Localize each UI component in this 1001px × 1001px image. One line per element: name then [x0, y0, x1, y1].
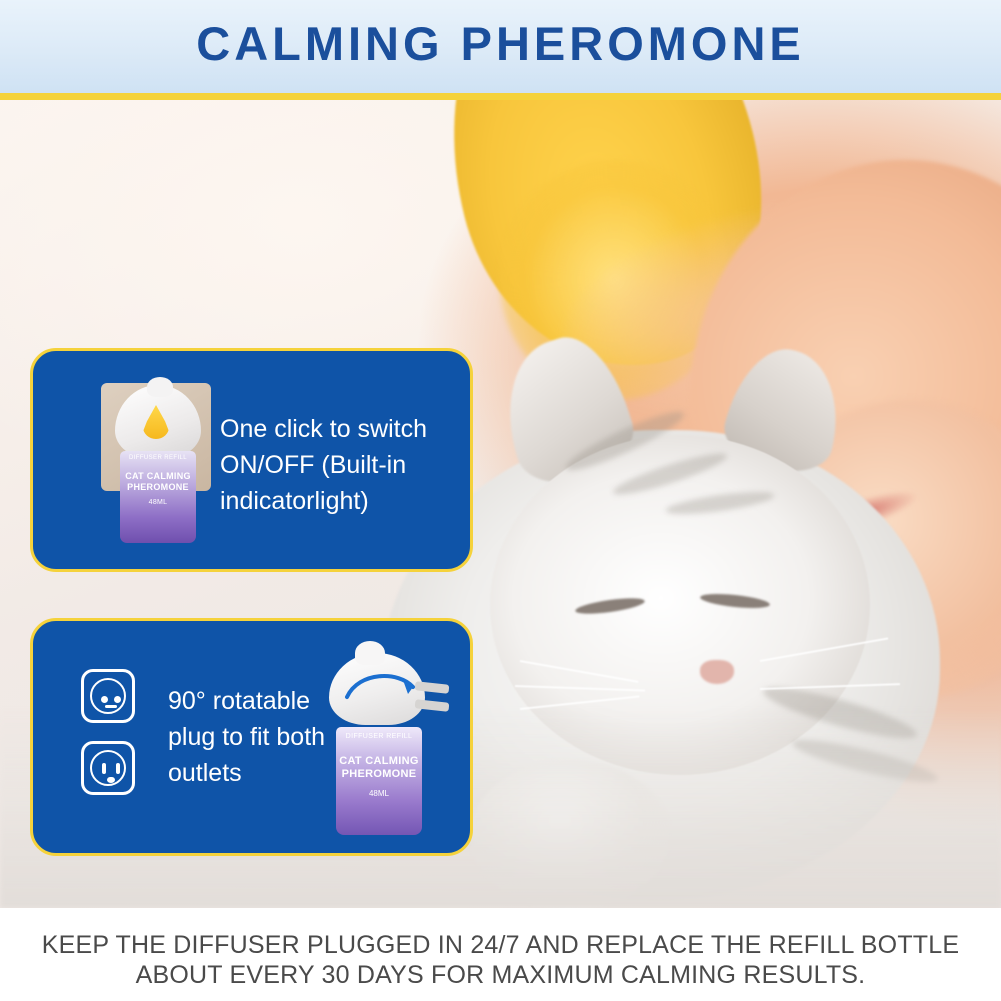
header-band: CALMING PHEROMONE	[0, 0, 1001, 93]
hero-photo: DIFFUSER REFILL CAT CALMING PHEROMONE 48…	[0, 100, 1001, 908]
feature-card-on-off-text: One click to switch ON/OFF (Built-in ind…	[220, 411, 460, 519]
diffuser-knob	[147, 377, 173, 397]
feature-card-rotatable-plug-text: 90° rotatable plug to fit both outlets	[168, 683, 348, 791]
footer-instruction-text: KEEP THE DIFFUSER PLUGGED IN 24/7 AND RE…	[0, 930, 1001, 990]
refill-bottle: DIFFUSER REFILL CAT CALMING PHEROMONE 48…	[120, 451, 196, 543]
header-divider	[0, 93, 1001, 100]
bottle-label-volume: 48ML	[120, 499, 196, 506]
cat-nose	[700, 660, 734, 684]
eu-outlet-face	[90, 678, 126, 714]
plug-knob	[355, 641, 385, 665]
feature-card-on-off: DIFFUSER REFILL CAT CALMING PHEROMONE 48…	[30, 348, 473, 572]
bottle-label-main: CAT CALMING PHEROMONE	[336, 755, 422, 781]
eu-outlet-icon	[81, 669, 135, 723]
bottle-label-main: CAT CALMING PHEROMONE	[120, 471, 196, 493]
feature-card-rotatable-plug: DIFFUSER REFILL CAT CALMING PHEROMONE 48…	[30, 618, 473, 856]
rotation-arrow-icon	[341, 663, 421, 707]
eu-outlet-hole	[101, 696, 108, 703]
us-outlet-ground	[107, 777, 115, 783]
footer-band: KEEP THE DIFFUSER PLUGGED IN 24/7 AND RE…	[0, 908, 1001, 1001]
bottle-label-top: DIFFUSER REFILL	[336, 733, 422, 740]
us-outlet-slot	[102, 763, 106, 774]
eu-outlet-hole	[114, 696, 121, 703]
eu-outlet-slot	[105, 705, 117, 708]
page-title: CALMING PHEROMONE	[0, 16, 1001, 71]
bottle-label-top: DIFFUSER REFILL	[120, 455, 196, 461]
bottle-label-volume: 48ML	[336, 789, 422, 798]
product-infographic: CALMING PHEROMONE	[0, 0, 1001, 1001]
us-outlet-slot	[116, 763, 120, 774]
refill-bottle: DIFFUSER REFILL CAT CALMING PHEROMONE 48…	[336, 727, 422, 835]
diffuser-product-image-1: DIFFUSER REFILL CAT CALMING PHEROMONE 48…	[93, 377, 233, 552]
us-outlet-icon	[81, 741, 135, 795]
